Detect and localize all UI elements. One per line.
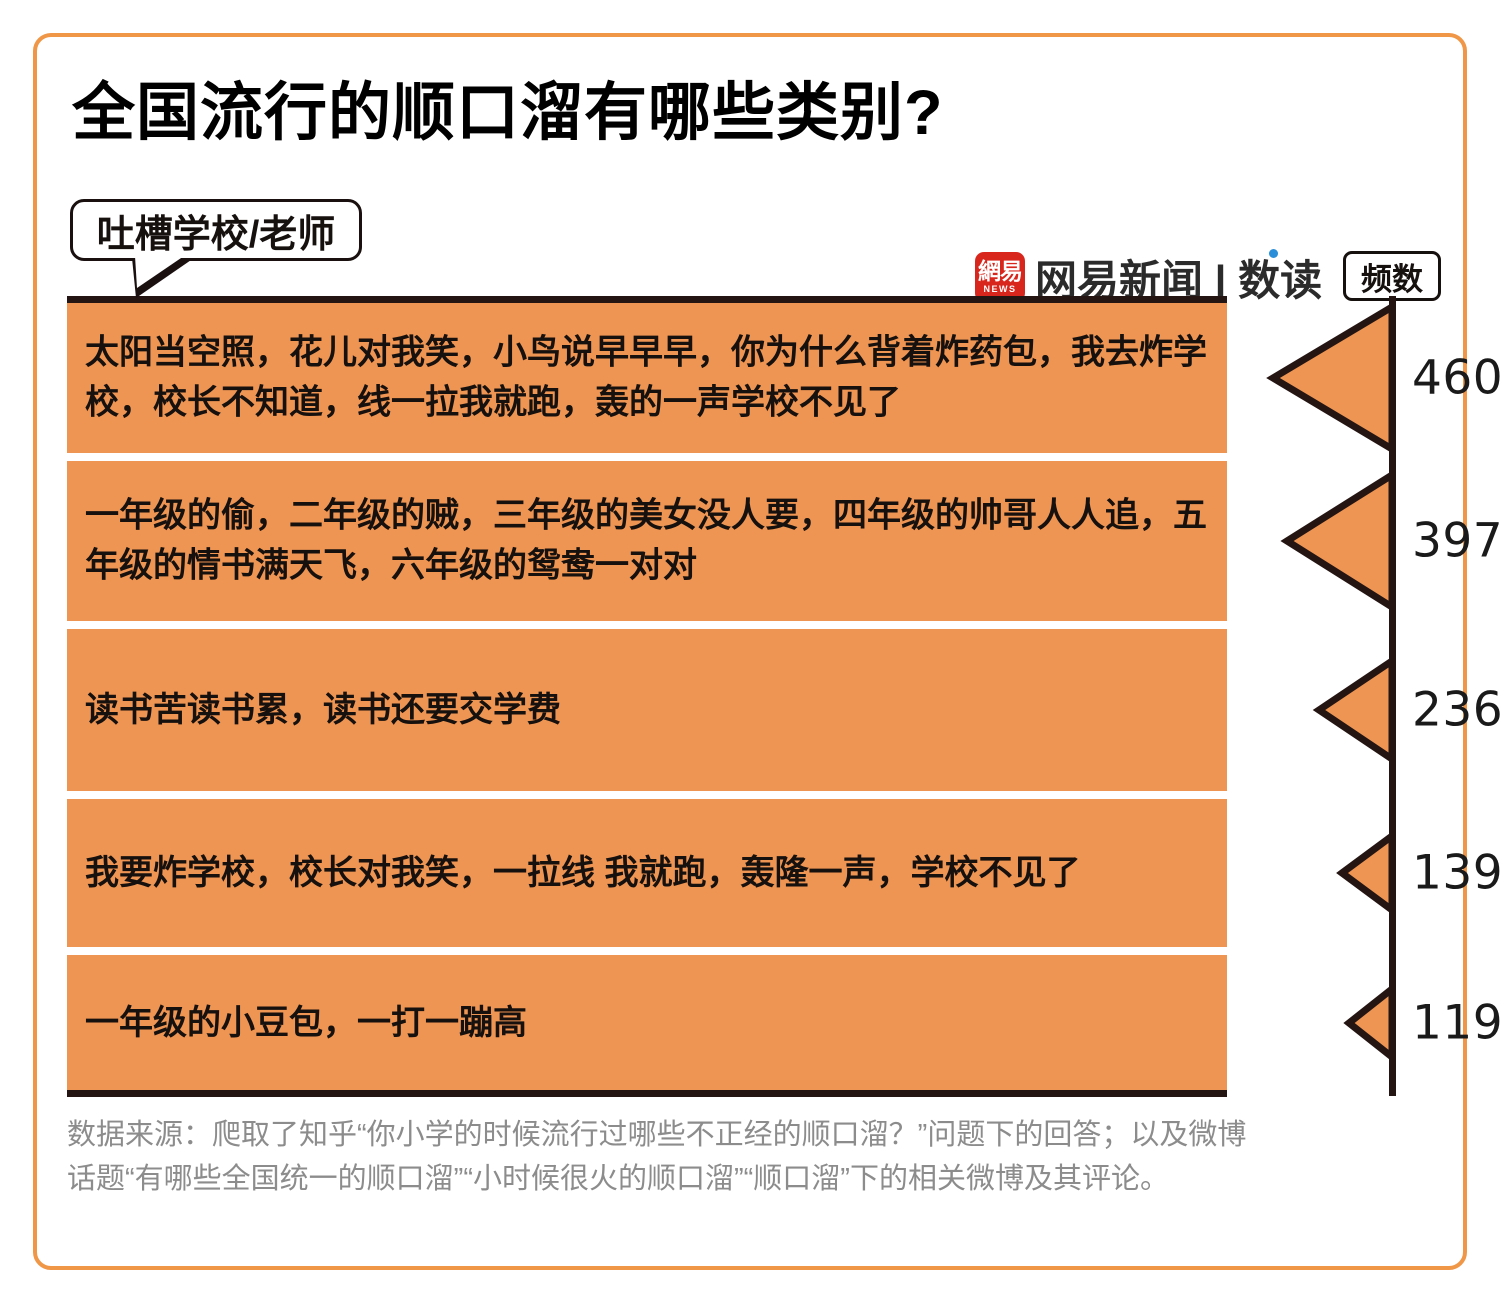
logo-mark-en-text: NEWS: [984, 285, 1017, 294]
value-marker-triangle: [1266, 303, 1396, 453]
chart-bottom-rule: [67, 1090, 1227, 1097]
logo-mark-cn-text: 網易: [978, 260, 1022, 283]
category-callout: 吐槽学校/老师: [70, 199, 362, 261]
value-marker-triangle: [1266, 471, 1396, 611]
value-marker-triangle: [1266, 832, 1396, 914]
value-label: 460: [1412, 351, 1500, 406]
bar-row-text: 太阳当空照，花儿对我笑，小鸟说早早早，你为什么背着炸药包，我去炸学校，校长不知道…: [85, 328, 1210, 429]
chart-row: 一年级的偷，二年级的贼，三年级的美女没人要，四年级的帅哥人人追，五年级的情书满天…: [67, 461, 1227, 621]
chart-row: 读书苦读书累，读书还要交学费 236: [67, 629, 1227, 791]
data-source-footnote: 数据来源：爬取了知乎“你小学的时候流行过哪些不正经的顺口溜？”问题下的回答；以及…: [67, 1113, 1253, 1201]
callout-tail-fill-shape: [135, 256, 184, 288]
bar-row-text: 我要炸学校，校长对我笑，一拉线 我就跑，轰隆一声，学校不见了: [85, 848, 1210, 898]
bar-chart: 太阳当空照，花儿对我笑，小鸟说早早早，你为什么背着炸药包，我去炸学校，校长不知道…: [67, 296, 1467, 1096]
value-label: 236: [1412, 683, 1500, 738]
infographic-frame: 全国流行的顺口溜有哪些类别? 吐槽学校/老师 網易 NEWS 网易新闻 | 数读…: [33, 33, 1467, 1270]
netease-logo-mark-icon: 網易 NEWS: [975, 252, 1025, 302]
bar-row-text: 一年级的偷，二年级的贼，三年级的美女没人要，四年级的帅哥人人追，五年级的情书满天…: [85, 491, 1210, 592]
value-label: 397: [1412, 514, 1500, 569]
bar-row-text: 读书苦读书累，读书还要交学费: [85, 685, 1210, 735]
frequency-axis-header: 频数: [1343, 251, 1441, 301]
page-title: 全国流行的顺口溜有哪些类别?: [72, 62, 943, 153]
frequency-axis-header-label: 频数: [1361, 254, 1423, 299]
value-marker-triangle: [1266, 985, 1396, 1061]
chart-top-rule: [67, 296, 1227, 303]
value-label: 139: [1412, 846, 1500, 901]
value-marker-triangle: [1266, 657, 1396, 763]
logo-blue-dot-icon: [1269, 249, 1278, 258]
chart-row: 一年级的小豆包，一打一蹦高 119: [67, 955, 1227, 1090]
chart-row: 我要炸学校，校长对我笑，一拉线 我就跑，轰隆一声，学校不见了 139: [67, 799, 1227, 947]
category-callout-label: 吐槽学校/老师: [97, 203, 336, 258]
bar-row-text: 一年级的小豆包，一打一蹦高: [85, 997, 1210, 1047]
chart-row: 太阳当空照，花儿对我笑，小鸟说早早早，你为什么背着炸药包，我去炸学校，校长不知道…: [67, 303, 1227, 453]
value-label: 119: [1412, 995, 1500, 1050]
